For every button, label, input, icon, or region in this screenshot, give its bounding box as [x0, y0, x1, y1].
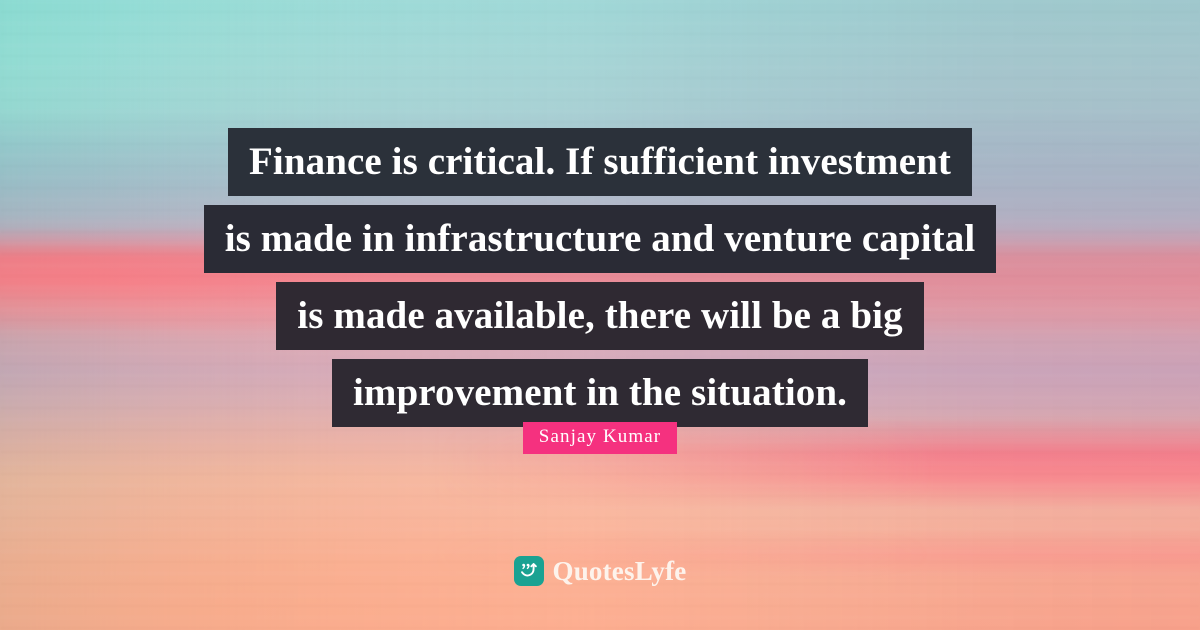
quote-mark-icon [514, 556, 544, 586]
quote-line-2: is made in infrastructure and venture ca… [204, 205, 997, 273]
quote-text-block: Finance is critical. If sufficient inves… [0, 128, 1200, 427]
author-badge-container: Sanjay Kumar [0, 422, 1200, 454]
quote-line-3: is made available, there will be a big [276, 282, 923, 350]
brand-name-label: QuotesLyfe [553, 558, 687, 585]
quote-line-1: Finance is critical. If sufficient inves… [228, 128, 972, 196]
author-name-badge: Sanjay Kumar [523, 422, 677, 454]
brand-watermark: QuotesLyfe [0, 556, 1200, 586]
quote-line-4: improvement in the situation. [332, 359, 868, 427]
quote-card: Finance is critical. If sufficient inves… [0, 0, 1200, 630]
